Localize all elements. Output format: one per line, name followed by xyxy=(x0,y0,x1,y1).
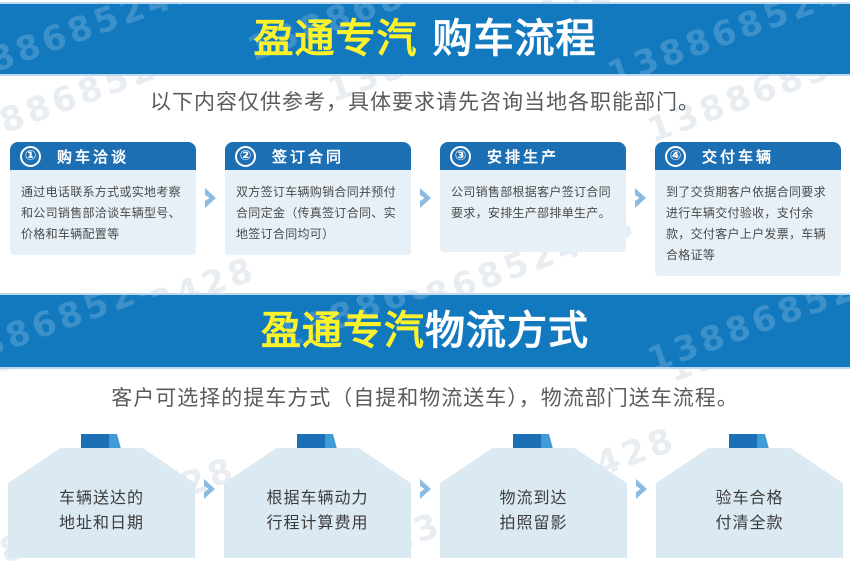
promo-page: 13886852428 13886852428 13886852428 1388… xyxy=(0,0,850,564)
logistics-card-line1: 根据车辆动力 xyxy=(266,486,368,511)
logistics-card-text: 物流到达 拍照留影 xyxy=(499,486,567,536)
watermark-text: 13886852428 xyxy=(642,295,850,367)
logistics-card-shape: 验车合格 付清全款 xyxy=(656,448,843,558)
step-header: ① 购车洽谈 xyxy=(10,142,196,170)
step-card[interactable]: ③ 安排生产 公司销售部根据客户签订合同要求，安排生产部排单生产。 xyxy=(440,142,626,252)
logistics-card-line2: 行程计算费用 xyxy=(266,511,368,536)
banner-purchase-flow: 13886852428 13886852428 13886852428 盈通专汽… xyxy=(0,2,850,76)
logistics-card-line1: 车辆送达的 xyxy=(59,486,144,511)
step-number-badge: ③ xyxy=(450,146,471,167)
watermark-text: 13886852428 xyxy=(0,4,232,74)
logistics-card-line1: 验车合格 xyxy=(715,486,783,511)
banner-brand-text: 盈通专汽 xyxy=(261,308,425,354)
logistics-card-line1: 物流到达 xyxy=(499,486,567,511)
chevron-right-icon xyxy=(418,187,433,209)
step-header: ③ 安排生产 xyxy=(440,142,626,170)
logistics-card-text: 验车合格 付清全款 xyxy=(715,486,783,536)
step-body-text: 通过电话联系方式或实地考察和公司销售部洽谈车辆型号、价格和车辆配置等 xyxy=(10,170,196,255)
logistics-card-shape: 车辆送达的 地址和日期 xyxy=(8,448,195,558)
step-body-text: 双方签订车辆购销合同并预付合同定金（传真签订合同、实地签订合同均可） xyxy=(225,170,411,255)
purchase-subtitle: 以下内容仅供参考，具体要求请先咨询当地各职能部门。 xyxy=(0,86,850,116)
watermark-text: 13886852428 xyxy=(602,4,850,74)
step-arrow xyxy=(626,142,655,254)
logistics-card-text: 根据车辆动力 行程计算费用 xyxy=(266,486,368,536)
step-body-text: 公司销售部根据客户签订合同要求，安排生产部排单生产。 xyxy=(440,170,626,252)
step-title: 购车洽谈 xyxy=(57,146,129,167)
banner-logistics: 13886852428 13886852428 13886852428 盈通专汽… xyxy=(0,293,850,369)
chevron-right-icon xyxy=(202,478,217,500)
chevron-right-icon xyxy=(418,478,433,500)
logistics-card[interactable]: 验车合格 付清全款 xyxy=(656,432,843,558)
step-header: ② 签订合同 xyxy=(225,142,411,170)
step-title: 交付车辆 xyxy=(702,146,774,167)
banner-purchase-title: 盈通专汽 购车流程 xyxy=(254,19,597,59)
step-header: ④ 交付车辆 xyxy=(655,142,841,170)
logistics-card-shape: 物流到达 拍照留影 xyxy=(440,448,627,558)
logistics-subtitle: 客户可选择的提车方式（自提和物流送车），物流部门送车流程。 xyxy=(0,382,850,412)
chevron-right-icon xyxy=(203,187,218,209)
logistics-card-line2: 拍照留影 xyxy=(499,511,567,536)
step-number-badge: ② xyxy=(235,146,256,167)
step-arrow xyxy=(411,142,440,254)
purchase-steps-row: ① 购车洽谈 通过电话联系方式或实地考察和公司销售部洽谈车辆型号、价格和车辆配置… xyxy=(10,142,842,254)
logistics-card[interactable]: 车辆送达的 地址和日期 xyxy=(8,432,195,558)
step-number-badge: ④ xyxy=(665,146,686,167)
watermark-text: 13886852428 xyxy=(0,295,222,367)
logistics-arrow xyxy=(195,432,224,558)
step-title: 签订合同 xyxy=(272,146,344,167)
banner-title-text: 购车流程 xyxy=(418,16,597,62)
step-card[interactable]: ② 签订合同 双方签订车辆购销合同并预付合同定金（传真签订合同、实地签订合同均可… xyxy=(225,142,411,255)
banner-title-text: 物流方式 xyxy=(425,308,589,354)
logistics-arrow xyxy=(627,432,656,558)
logistics-arrow xyxy=(411,432,440,558)
step-number-badge: ① xyxy=(20,146,41,167)
step-title: 安排生产 xyxy=(487,146,559,167)
logistics-card[interactable]: 根据车辆动力 行程计算费用 xyxy=(224,432,411,558)
chevron-right-icon xyxy=(634,478,649,500)
banner-brand-text: 盈通专汽 xyxy=(254,16,418,62)
banner-logistics-title: 盈通专汽物流方式 xyxy=(261,311,589,351)
logistics-card-shape: 根据车辆动力 行程计算费用 xyxy=(224,448,411,558)
step-body-text: 到了交货期客户依据合同要求进行车辆交付验收，支付余款，交付客户上户发票，车辆合格… xyxy=(655,170,841,276)
logistics-cards-row: 车辆送达的 地址和日期 根据车辆动力 行程计算费用 xyxy=(8,432,844,558)
chevron-right-icon xyxy=(633,187,648,209)
step-card[interactable]: ④ 交付车辆 到了交货期客户依据合同要求进行车辆交付验收，支付余款，交付客户上户… xyxy=(655,142,841,276)
logistics-card[interactable]: 物流到达 拍照留影 xyxy=(440,432,627,558)
step-card[interactable]: ① 购车洽谈 通过电话联系方式或实地考察和公司销售部洽谈车辆型号、价格和车辆配置… xyxy=(10,142,196,255)
logistics-card-line2: 付清全款 xyxy=(715,511,783,536)
logistics-card-text: 车辆送达的 地址和日期 xyxy=(59,486,144,536)
logistics-card-line2: 地址和日期 xyxy=(59,511,144,536)
step-arrow xyxy=(196,142,225,254)
